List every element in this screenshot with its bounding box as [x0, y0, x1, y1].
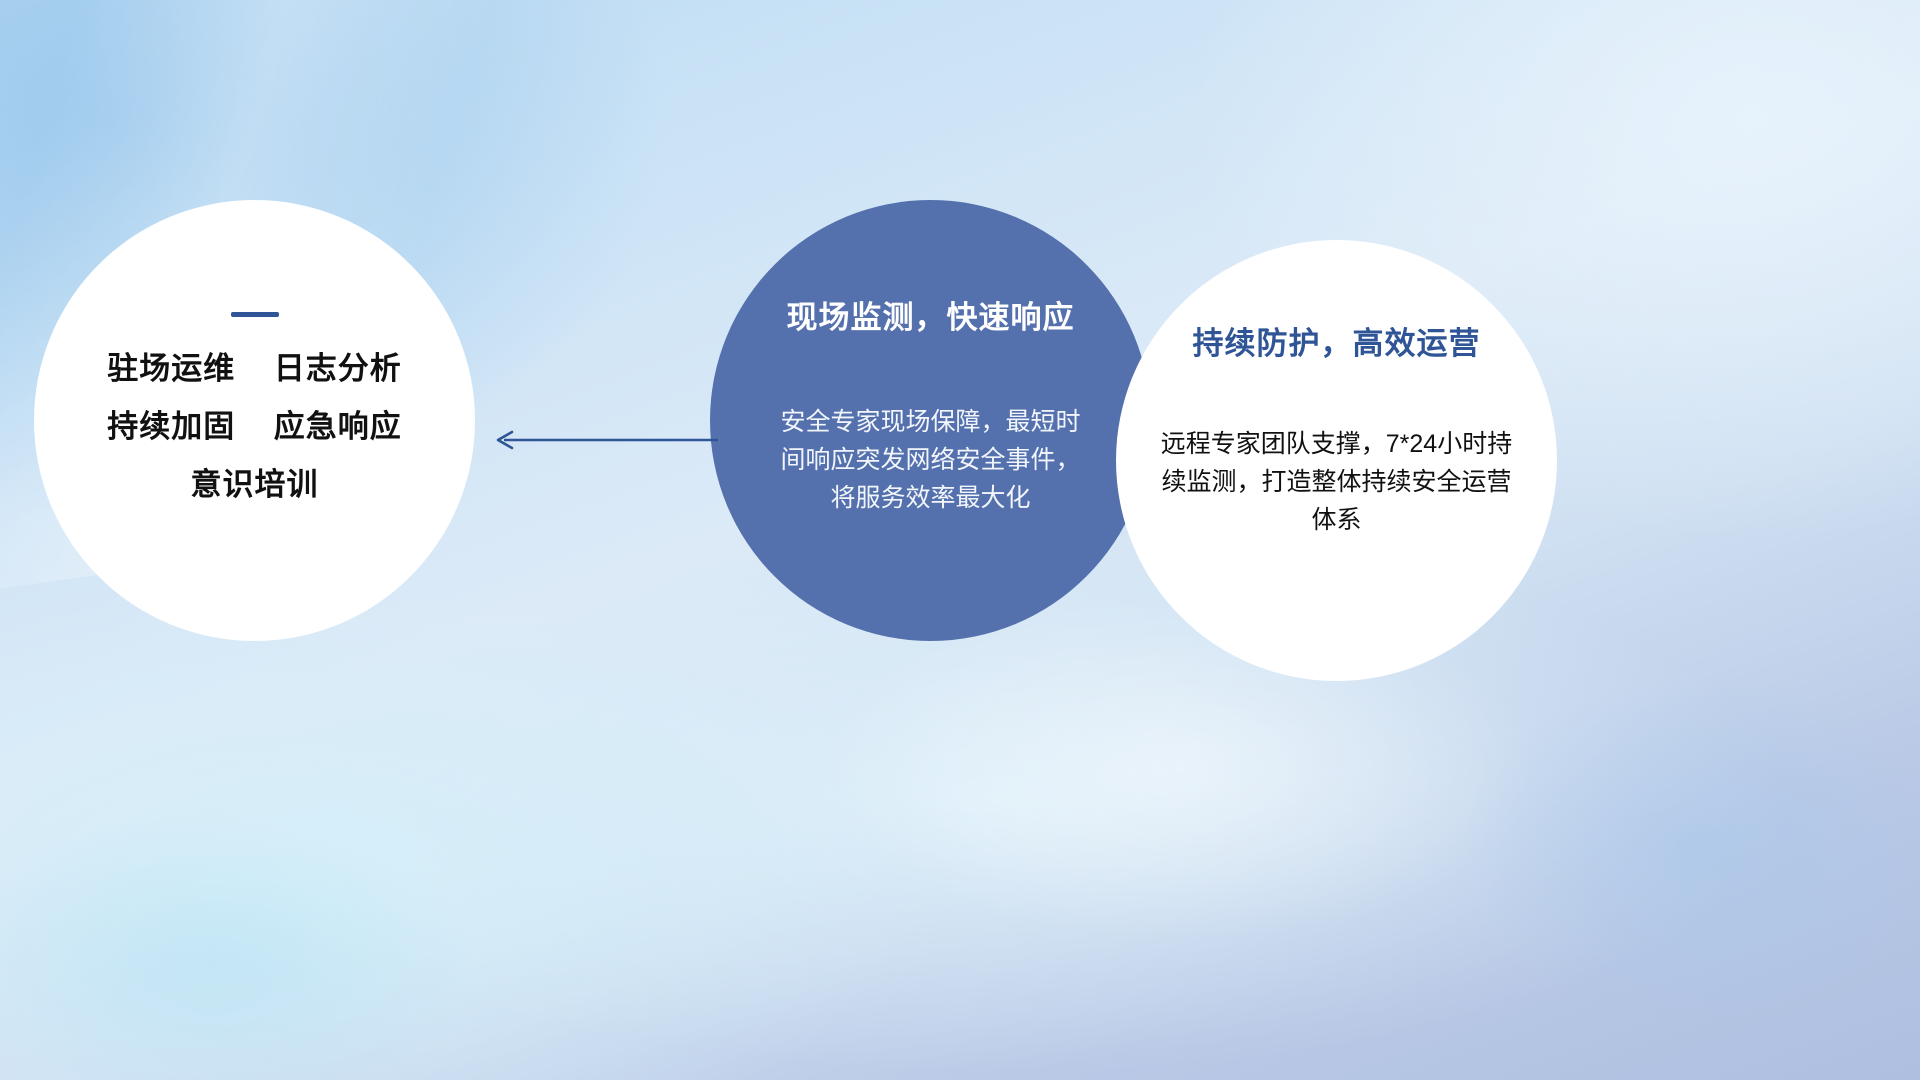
circle-left-line-1: 驻场运维 日志分析: [107, 353, 401, 384]
circle-left-line-2: 持续加固 应急响应: [107, 411, 401, 442]
divider-rule: [231, 312, 279, 317]
circle-right-body: 远程专家团队支撑，7*24小时持续监测，打造整体持续安全运营体系: [1151, 425, 1523, 539]
circle-node-middle[interactable]: 现场监测，快速响应 安全专家现场保障，最短时间响应突发网络安全事件，将服务效率最…: [710, 200, 1151, 641]
slide-canvas: 现场监测，快速响应 安全专家现场保障，最短时间响应突发网络安全事件，将服务效率最…: [0, 0, 1920, 1080]
circle-node-left[interactable]: 驻场运维 日志分析 持续加固 应急响应 意识培训: [34, 200, 475, 641]
circle-left-line-3: 意识培训: [191, 469, 319, 500]
circle-middle-title: 现场监测，快速响应: [787, 292, 1075, 337]
background-sheen-lower-left: [0, 700, 700, 1080]
circle-right-title: 持续防护，高效运营: [1193, 318, 1481, 363]
arrow-left-icon: [490, 424, 720, 456]
background-sheen-lower-right: [1330, 620, 1920, 1080]
circle-middle-body: 安全专家现场保障，最短时间响应突发网络安全事件，将服务效率最大化: [781, 403, 1081, 517]
circle-node-right[interactable]: 持续防护，高效运营 远程专家团队支撑，7*24小时持续监测，打造整体持续安全运营…: [1116, 240, 1557, 681]
